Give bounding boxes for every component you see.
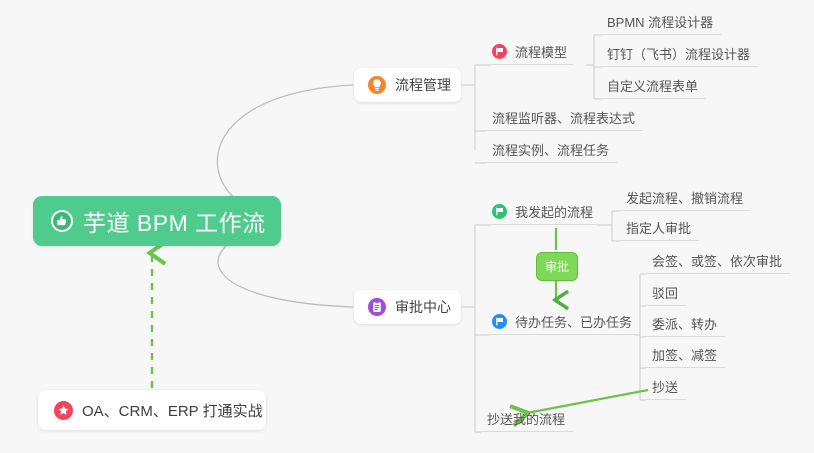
flag-icon: [492, 204, 507, 219]
branch-node-approval-center[interactable]: 审批中心: [354, 290, 461, 324]
root-label: 芋道 BPM 工作流: [83, 204, 266, 238]
leaf-label: 发起流程、撤销流程: [626, 188, 743, 207]
leaf-node[interactable]: 会签、或签、依次审批: [646, 248, 790, 274]
leaf-node[interactable]: 驳回: [646, 280, 686, 306]
leaf-node[interactable]: 流程监听器、流程表达式: [486, 105, 643, 131]
leaf-label: 流程实例、流程任务: [492, 140, 609, 159]
clipboard-icon: [368, 298, 386, 316]
leaf-label: 指定人审批: [626, 218, 691, 237]
leaf-label: 委派、转办: [652, 314, 717, 333]
leaf-label: 会签、或签、依次审批: [652, 251, 782, 270]
branch-node-process-management[interactable]: 流程管理: [354, 68, 461, 102]
leaf-node[interactable]: 钉钉（飞书）流程设计器: [601, 41, 758, 67]
mindmap-canvas: 芋道 BPM 工作流 流程管理 审批中心: [0, 0, 814, 453]
leaf-node[interactable]: 流程实例、流程任务: [486, 137, 617, 163]
sub-node-todo-done-tasks[interactable]: 待办任务、已办任务: [490, 309, 638, 335]
flag-icon: [492, 44, 507, 59]
lightbulb-icon: [368, 76, 386, 94]
leaf-label: 加签、减签: [652, 345, 717, 364]
leaf-node[interactable]: 抄送: [646, 374, 686, 400]
leaf-node[interactable]: 发起流程、撤销流程: [620, 185, 751, 211]
leaf-node[interactable]: 指定人审批: [620, 215, 699, 241]
approval-badge[interactable]: 审批: [536, 252, 578, 281]
branch-label: 流程管理: [395, 75, 451, 95]
sub-node-label: 待办任务、已办任务: [515, 312, 632, 331]
leaf-label: 自定义流程表单: [607, 76, 698, 95]
sub-node-my-started-processes[interactable]: 我发起的流程: [490, 199, 599, 225]
thumbs-up-icon: [51, 210, 73, 232]
star-icon: [54, 401, 73, 420]
leaf-label: 钉钉（飞书）流程设计器: [607, 44, 750, 63]
sub-node-process-model[interactable]: 流程模型: [490, 39, 573, 65]
leaf-node[interactable]: BPMN 流程设计器: [601, 9, 721, 35]
approval-badge-label: 审批: [545, 258, 569, 275]
leaf-node[interactable]: 加签、减签: [646, 342, 725, 368]
flag-icon: [492, 314, 507, 329]
sub-node-label: 流程模型: [515, 42, 567, 61]
leaf-node[interactable]: 抄送我的流程: [481, 406, 573, 432]
root-node[interactable]: 芋道 BPM 工作流: [33, 196, 281, 246]
callout-node-integration[interactable]: OA、CRM、ERP 打通实战: [38, 390, 266, 430]
leaf-node[interactable]: 自定义流程表单: [601, 73, 706, 99]
leaf-label: 驳回: [652, 283, 678, 302]
leaf-node[interactable]: 委派、转办: [646, 311, 725, 337]
leaf-label: 抄送: [652, 377, 678, 396]
leaf-label: 抄送我的流程: [487, 409, 565, 428]
leaf-label: 流程监听器、流程表达式: [492, 108, 635, 127]
branch-label: 审批中心: [395, 297, 451, 317]
callout-label: OA、CRM、ERP 打通实战: [82, 400, 263, 421]
sub-node-label: 我发起的流程: [515, 202, 593, 221]
leaf-label: BPMN 流程设计器: [607, 12, 713, 31]
